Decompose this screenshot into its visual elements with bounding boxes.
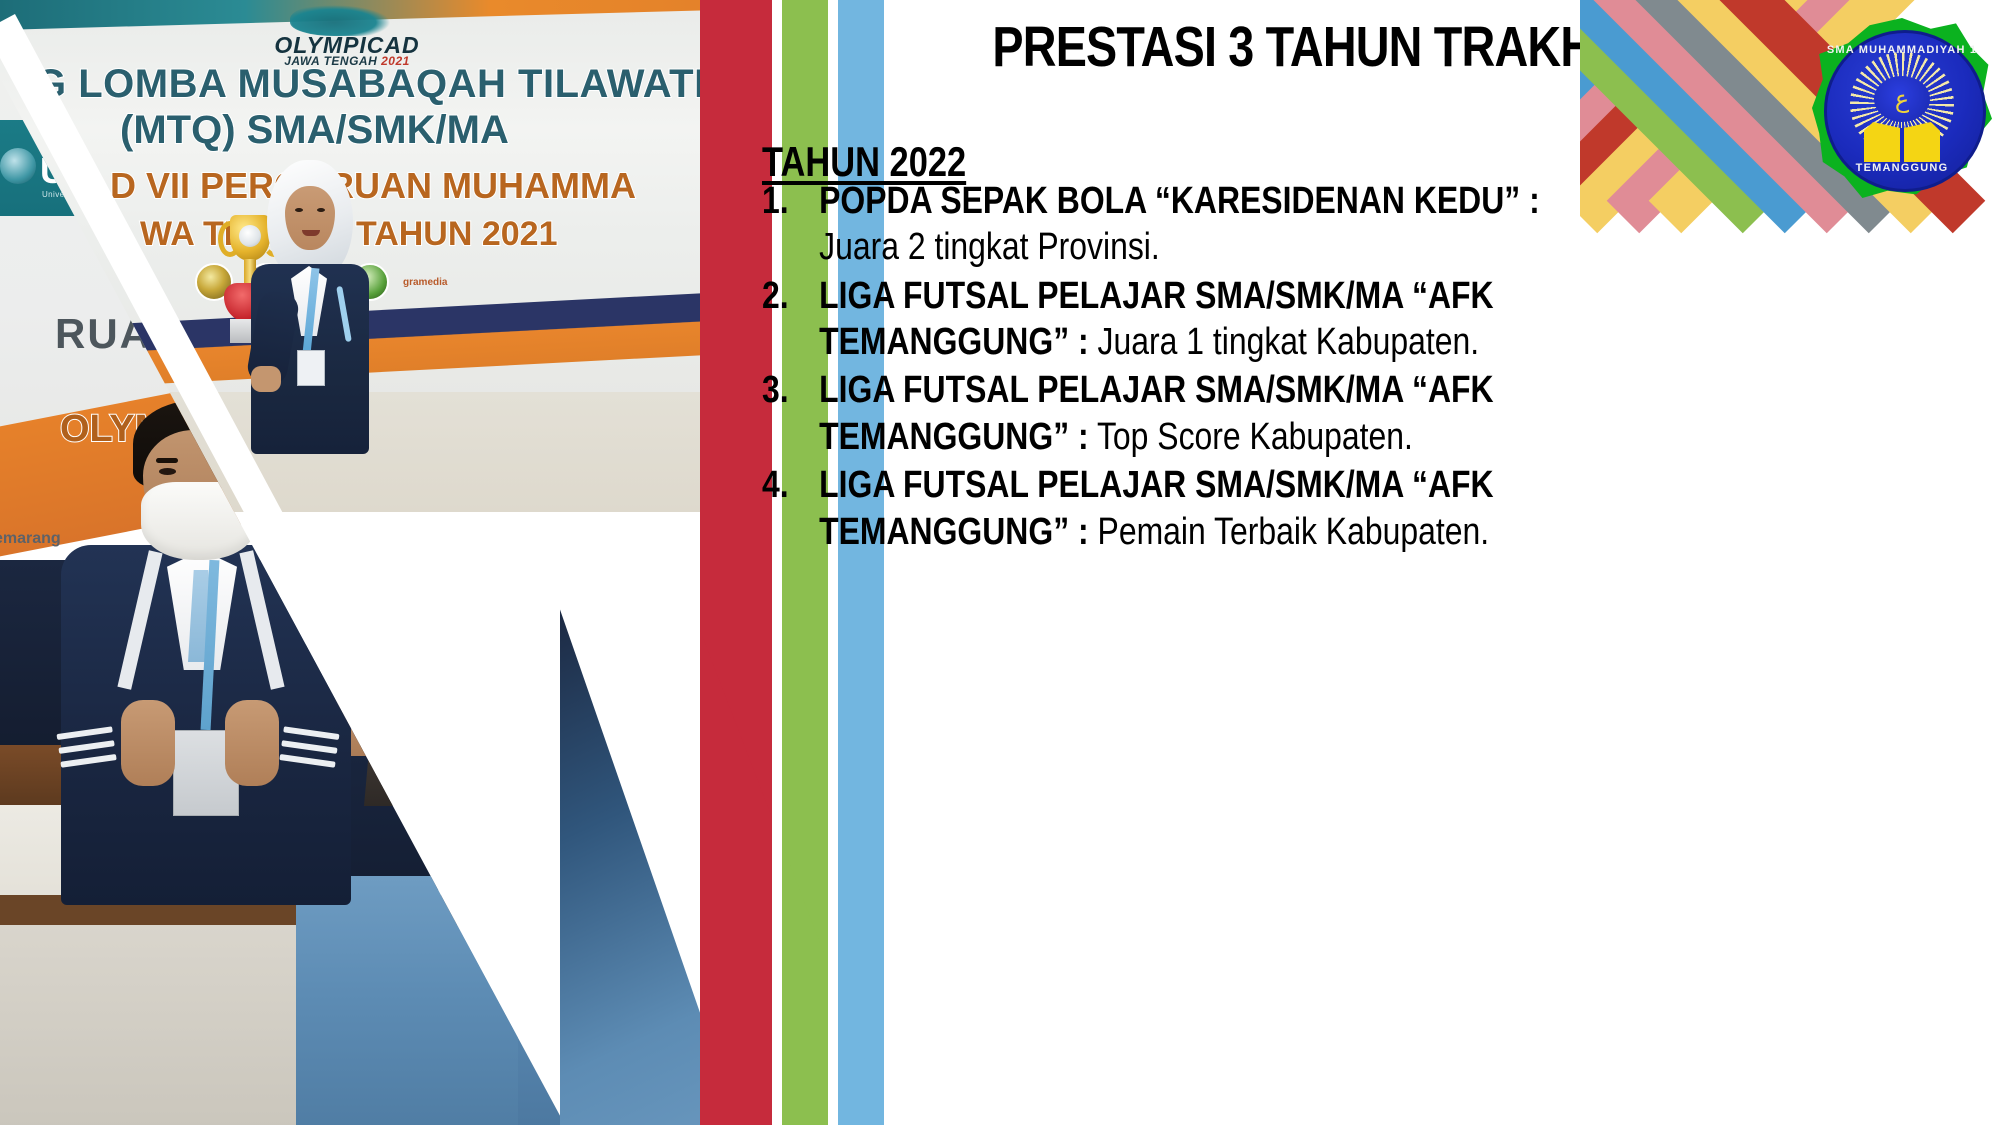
page-title: PRESTASI 3 TAHUN TRAKHIR (992, 18, 1615, 78)
sponsor-wordmark: gramedia (403, 277, 447, 288)
list-item-text: LIGA FUTSAL PELAJAR SMA/SMK/MA “AFK TEMA… (819, 273, 1541, 366)
list-item: 3. LIGA FUTSAL PELAJAR SMA/SMK/MA “AFK T… (762, 367, 1753, 460)
thumbs-up-hand (121, 700, 175, 786)
list-item: 2. LIGA FUTSAL PELAJAR SMA/SMK/MA “AFK T… (762, 273, 1753, 366)
banner2-semarang-line: emarang (0, 530, 61, 548)
list-item-detail: Pemain Terbaik Kabupaten. (1089, 511, 1489, 553)
banner2-hfq: HFQ) (175, 368, 281, 413)
trophy-handle-left (346, 592, 392, 666)
logo-ring-text-bottom: TEMANGGUNG (1812, 162, 1992, 174)
eye (317, 208, 325, 212)
logo-calligraphy-icon: ع (1878, 80, 1926, 118)
eye (213, 468, 230, 475)
sleeve-cuff (278, 726, 339, 773)
slide-root: OLYMPICAD JAWA TENGAH 2021 G LOMBA MUSAB… (0, 0, 2000, 1125)
eyebrow (210, 458, 232, 463)
trophy-handle-right (428, 592, 474, 666)
list-item-number: 4. (762, 462, 819, 508)
list-item-number: 1. (762, 178, 819, 224)
trophy-cup (360, 592, 450, 680)
achievement-list: 1. POPDA SEPAK BOLA “KARESIDENAN KEDU” :… (762, 178, 1942, 557)
list-item-number: 2. (762, 273, 819, 319)
list-item-text: LIGA FUTSAL PELAJAR SMA/SMK/MA “AFK TEMA… (819, 462, 1541, 555)
school-logo: ع SMA MUHAMMADIYAH 1 TEMANGGUNG (1812, 18, 1992, 198)
list-item: 4. LIGA FUTSAL PELAJAR SMA/SMK/MA “AFK T… (762, 462, 1753, 555)
face-mask (141, 482, 257, 560)
banner-text-line-1: G LOMBA MUSABAQAH TILAWATIL (35, 62, 700, 107)
trophy-plinth (364, 696, 446, 806)
eyebrow (156, 458, 178, 463)
sleeve-cuff (56, 726, 117, 773)
trophy-plate (378, 720, 432, 772)
list-item-detail: Juara 2 tingkat Provinsi. (819, 226, 1160, 268)
trophy-neck (396, 676, 414, 700)
logo-ring-text-top: SMA MUHAMMADIYAH 1 (1812, 44, 1992, 56)
olympicad-emblem-icon (290, 2, 400, 36)
banner-text-line-2: (MTQ) SMA/SMK/MA (120, 108, 700, 153)
trophy-ribbon (396, 586, 412, 686)
unimus-seal-icon (0, 148, 36, 184)
list-item-text: POPDA SEPAK BOLA “KARESIDENAN KEDU” : Ju… (819, 178, 1541, 271)
trophy-crown (374, 530, 428, 600)
skirt (296, 876, 518, 1125)
student-boy-thumbs-up (55, 400, 355, 900)
eye (295, 208, 303, 212)
list-item-text: LIGA FUTSAL PELAJAR SMA/SMK/MA “AFK TEMA… (819, 367, 1541, 460)
list-item-title: POPDA SEPAK BOLA “KARESIDENAN KEDU” : (819, 180, 1540, 222)
list-item: 1. POPDA SEPAK BOLA “KARESIDENAN KEDU” :… (762, 178, 1753, 271)
list-item-number: 3. (762, 367, 819, 413)
red-trophy (350, 530, 470, 830)
thumbs-up-hand (225, 700, 279, 786)
list-item-detail: Top Score Kabupaten. (1089, 416, 1413, 458)
list-item-detail: Juara 1 tingkat Kabupaten. (1089, 321, 1479, 363)
eye (159, 468, 176, 475)
logo-book-spine (1900, 128, 1904, 162)
